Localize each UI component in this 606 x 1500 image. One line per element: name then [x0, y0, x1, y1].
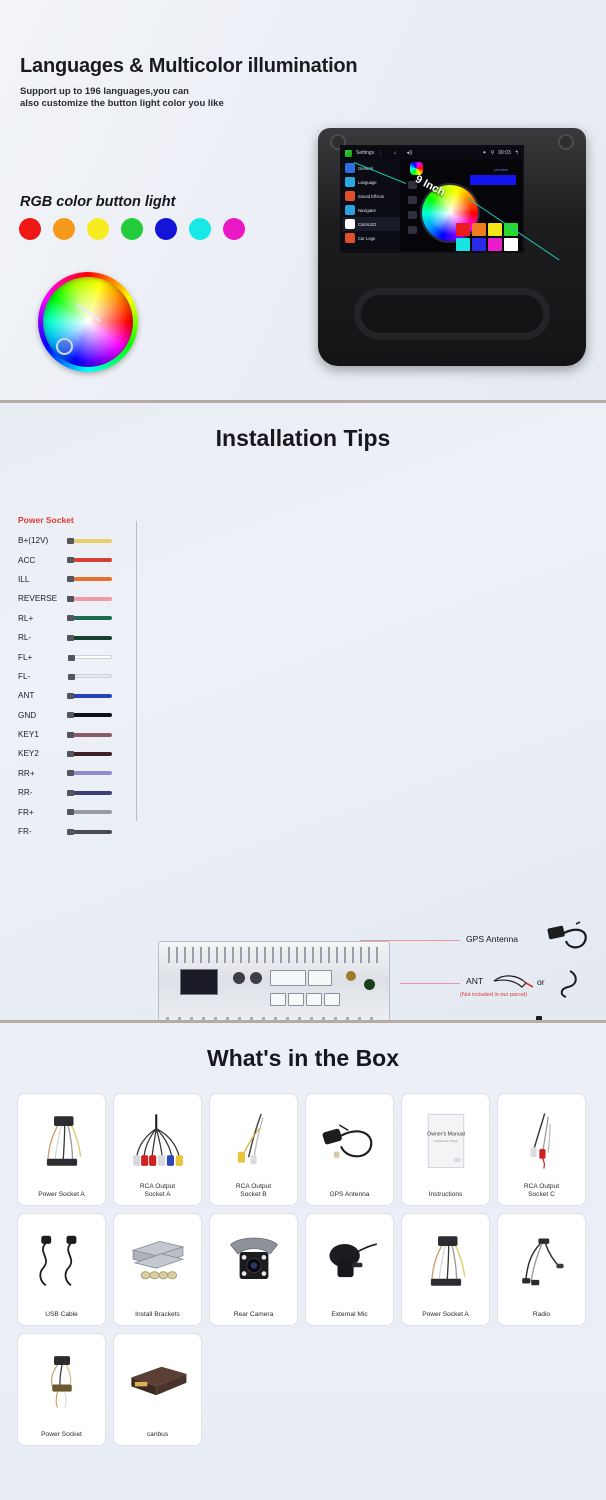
box-item-caption: RCA OutputSocket B: [213, 1183, 295, 1199]
wire-label: ILL: [18, 575, 70, 584]
callout-gps-antenna: GPS Antenna: [466, 934, 518, 944]
sidebar-icon-3[interactable]: [408, 211, 417, 219]
rgb-section-title: RGB color button light: [20, 194, 175, 210]
wire-row: FR-: [18, 822, 136, 841]
installation-title: Installation Tips: [0, 403, 606, 452]
color-dot-orange[interactable]: [53, 218, 75, 240]
connector-socket-b: [288, 993, 304, 1006]
box-item-card: RCA OutputSocket C: [497, 1093, 586, 1206]
color-wheel[interactable]: [38, 272, 138, 372]
wire-color-swatch: [70, 674, 112, 678]
wire-color-swatch: [70, 830, 112, 834]
wire-color-swatch: [70, 597, 112, 601]
wire-row: RR-: [18, 783, 136, 802]
box-item-caption: RCA OutputSocket C: [501, 1183, 583, 1199]
rear-camera-icon: [210, 1222, 297, 1300]
leader-line-ant: [400, 983, 460, 984]
box-item-card: canbus: [113, 1333, 202, 1446]
settings-menu-item-label: Sound Effects: [358, 194, 384, 199]
wire-row: ANT: [18, 686, 136, 705]
box-item-caption: canbus: [117, 1431, 199, 1439]
canbus-icon: [114, 1342, 201, 1420]
screen-color-swatch-5[interactable]: [456, 238, 470, 251]
wire-label: KEY2: [18, 749, 70, 758]
location-icon: ⚲: [491, 150, 495, 156]
wire-label: ACC: [18, 556, 70, 565]
screen-side-iconbar[interactable]: [406, 181, 418, 234]
dash-vent-frame: [354, 288, 550, 340]
box-item-card: Rear Camera: [209, 1213, 298, 1326]
color-dot-cyan[interactable]: [189, 218, 211, 240]
wire-color-swatch: [70, 636, 112, 640]
wire-color-swatch: [70, 752, 112, 756]
box-item-caption: Power Socket A: [21, 1191, 103, 1199]
connector-socket-c: [306, 993, 322, 1006]
mount-tab-right: [558, 134, 574, 150]
screen-color-swatch-2[interactable]: [472, 223, 486, 236]
gps-jack: [364, 979, 375, 990]
color-dot-magenta[interactable]: [223, 218, 245, 240]
settings-menu-item-label: Navigator: [358, 208, 376, 213]
box-item-caption: Instructions: [405, 1191, 487, 1199]
wire-label: RR-: [18, 788, 70, 797]
connector-socket-a: [270, 993, 286, 1006]
box-item-caption: Install Brackets: [117, 1311, 199, 1319]
box-item-caption: Radio: [501, 1311, 583, 1319]
box-item-card: Install Brackets: [113, 1213, 202, 1326]
sound-icon: [345, 191, 355, 201]
box-item-card: Power Socket A: [401, 1213, 490, 1326]
radio-icon: [498, 1222, 585, 1300]
box-item-caption: Rear Camera: [213, 1311, 295, 1319]
wire-label: FL+: [18, 653, 70, 662]
wire-row: REVERSE: [18, 589, 136, 608]
box-item-card: External Mic: [305, 1213, 394, 1326]
language-icon: [345, 177, 355, 187]
power-socket-wire-list: Power Socket B+(12V)ACCILLREVERSERL+RL-F…: [18, 515, 136, 841]
subtitle-line-2: also customize the button light color yo…: [20, 98, 224, 110]
power-socket-a-icon: [402, 1222, 489, 1300]
color-dot-row: [19, 218, 245, 240]
box-item-caption: USB Cable: [21, 1311, 103, 1319]
wire-row: FR+: [18, 802, 136, 821]
callout-ant: ANT: [466, 976, 483, 986]
color-dot-yellow[interactable]: [87, 218, 109, 240]
status-bar-clock: 00:03: [498, 150, 511, 156]
settings-menu-item-label: Language: [358, 180, 377, 185]
wire-bus-line: [136, 521, 137, 821]
back-icon[interactable]: ↰: [515, 150, 519, 156]
wire-row: ACC: [18, 550, 136, 569]
svg-text:Owner's Manual: Owner's Manual: [427, 1131, 465, 1137]
wire-row: RL-: [18, 628, 136, 647]
settings-menu-item-label: Car Logo: [358, 236, 375, 241]
screen-color-swatch-6[interactable]: [472, 238, 486, 251]
callout-ant-or: or: [537, 977, 545, 987]
wire-color-swatch: [70, 694, 112, 698]
box-item-caption: RCA OutputSocket A: [117, 1183, 199, 1199]
wire-row: FL+: [18, 647, 136, 666]
head-unit-device: Settings ⋮ ⌂ ◂)) ✦ ⚲ 00:03 ↰ GeneralLang…: [318, 128, 586, 366]
settings-menu-item-sound-effects[interactable]: Sound Effects: [342, 189, 400, 203]
brackets-icon: [114, 1222, 201, 1300]
antenna-icon: [492, 971, 536, 993]
home-icon[interactable]: ⌂: [394, 150, 397, 156]
wire-color-swatch: [70, 655, 112, 659]
settings-menu-item-label: ColorLED: [358, 222, 376, 227]
wire-row: KEY2: [18, 744, 136, 763]
wire-row: GND: [18, 706, 136, 725]
wire-row: RL+: [18, 609, 136, 628]
wire-label: REVERSE: [18, 594, 70, 603]
wire-color-swatch: [70, 577, 112, 581]
external-mic-icon: [306, 1222, 393, 1300]
rca-jack-2: [250, 972, 262, 984]
box-item-card: USB Cable: [17, 1213, 106, 1326]
settings-menu-item-navigator[interactable]: Navigator: [342, 203, 400, 217]
usb-cable-icon: [18, 1222, 105, 1300]
gps-antenna-icon: [306, 1102, 393, 1180]
power-socket-icon: [18, 1342, 105, 1420]
wire-row: B+(12V): [18, 531, 136, 550]
head-unit-screen[interactable]: Settings ⋮ ⌂ ◂)) ✦ ⚲ 00:03 ↰ GeneralLang…: [340, 145, 524, 253]
wire-color-swatch: [70, 791, 112, 795]
general-icon: [345, 163, 355, 173]
sidebar-icon-4[interactable]: [408, 226, 417, 234]
wire-color-swatch: [70, 713, 112, 717]
colorled-icon: [345, 219, 355, 229]
screen-body: GeneralLanguageSound EffectsNavigatorCol…: [342, 159, 522, 253]
screen-color-swatch-3[interactable]: [488, 223, 502, 236]
status-bar-title: Settings: [356, 150, 374, 156]
bluetooth-icon: ✦: [482, 150, 486, 156]
more-options-icon: ⋮: [378, 150, 384, 156]
color-dot-blue[interactable]: [155, 218, 177, 240]
wire-row: RR+: [18, 764, 136, 783]
rca-socket-c-icon: [498, 1102, 585, 1180]
carlogo-icon: [345, 233, 355, 243]
color-wheel-ring: [38, 272, 138, 372]
rca-socket-b-icon: [210, 1102, 297, 1180]
wire-label: FR+: [18, 808, 70, 817]
wire-label: FL-: [18, 672, 70, 681]
wire-color-swatch: [70, 539, 112, 543]
whats-in-the-box-section: What's in the Box Power Socket A RCA Out…: [0, 1020, 606, 1500]
wire-color-swatch: [70, 616, 112, 620]
subtitle-line-1: Support up to 196 languages,you can: [20, 86, 224, 98]
languages-illumination-section: Languages & Multicolor illumination Supp…: [0, 0, 606, 400]
box-item-caption: Power Socket: [21, 1431, 103, 1439]
screen-color-swatch-7[interactable]: [488, 238, 502, 251]
wire-color-swatch: [70, 771, 112, 775]
color-dot-red[interactable]: [19, 218, 41, 240]
color-wheel-handle[interactable]: [56, 338, 73, 355]
wire-color-swatch: [70, 810, 112, 814]
wire-label: GND: [18, 711, 70, 720]
gps-antenna-icon: [546, 921, 592, 951]
screen-status-bar: Settings ⋮ ⌂ ◂)) ✦ ⚲ 00:03 ↰: [342, 147, 522, 159]
settings-menu-list[interactable]: GeneralLanguageSound EffectsNavigatorCol…: [342, 159, 400, 253]
box-item-card: GPS Antenna: [305, 1093, 394, 1206]
volume-icon[interactable]: ◂)): [407, 150, 413, 156]
rca-socket-a-icon: [114, 1102, 201, 1180]
wire-label: B+(12V): [18, 536, 70, 545]
manual-icon: Owner's Manual Android Car Player: [402, 1102, 489, 1180]
box-item-card: RCA OutputSocket A: [113, 1093, 202, 1206]
box-item-caption: Power Socket A: [405, 1311, 487, 1319]
wire-row: KEY1: [18, 725, 136, 744]
box-item-card: RCA OutputSocket B: [209, 1093, 298, 1206]
page-title: Languages & Multicolor illumination: [20, 55, 357, 78]
connector-socket-top: [270, 970, 306, 986]
current-color-preview[interactable]: [410, 162, 423, 175]
antenna-alt-icon: [556, 969, 582, 999]
wire-color-swatch: [70, 733, 112, 737]
wire-label: RR+: [18, 769, 70, 778]
settings-menu-item-car-logo[interactable]: Car Logo: [342, 231, 400, 245]
wire-label: ANT: [18, 691, 70, 700]
rca-jack-1: [233, 972, 245, 984]
wire-row: ILL: [18, 570, 136, 589]
preview-label: preview: [494, 167, 508, 172]
screen-color-swatch-1[interactable]: [456, 223, 470, 236]
screen-color-swatch-8[interactable]: [504, 238, 518, 251]
settings-app-icon: [345, 150, 352, 157]
wire-color-swatch: [70, 558, 112, 562]
wire-label: RL-: [18, 633, 70, 642]
page-subtitle: Support up to 196 languages,you can also…: [20, 86, 224, 109]
box-item-card: Power Socket A: [17, 1093, 106, 1206]
box-item-card: Owner's Manual Android Car Player Instru…: [401, 1093, 490, 1206]
box-item-card: Power Socket: [17, 1333, 106, 1446]
antenna-jack: [346, 971, 356, 981]
box-item-caption: External Mic: [309, 1311, 391, 1319]
svg-text:Android Car Player: Android Car Player: [433, 1139, 457, 1143]
box-items-grid: Power Socket A RCA OutputSocket A RCA Ou…: [17, 1093, 589, 1446]
color-preview-bar: [470, 175, 516, 185]
power-socket-a-icon: [18, 1102, 105, 1180]
installation-tips-section: Installation Tips Power Socket B+(12V)AC…: [0, 400, 606, 1020]
navigator-icon: [345, 205, 355, 215]
wire-label: RL+: [18, 614, 70, 623]
chassis-top-vents: [168, 947, 380, 963]
box-item-caption: GPS Antenna: [309, 1191, 391, 1199]
color-dot-green[interactable]: [121, 218, 143, 240]
box-title: What's in the Box: [0, 1023, 606, 1072]
settings-menu-item-colorled[interactable]: ColorLED: [342, 217, 400, 231]
power-socket-title: Power Socket: [18, 515, 136, 525]
leader-line-gps: [360, 940, 460, 941]
connector-socket-top2: [308, 970, 332, 986]
wire-label: KEY1: [18, 730, 70, 739]
connector-power-block: [180, 969, 218, 995]
sidebar-icon-2[interactable]: [408, 196, 417, 204]
box-item-card: Radio: [497, 1213, 586, 1326]
connector-socket-d: [324, 993, 340, 1006]
wire-label: FR-: [18, 827, 70, 836]
wire-row: FL-: [18, 667, 136, 686]
